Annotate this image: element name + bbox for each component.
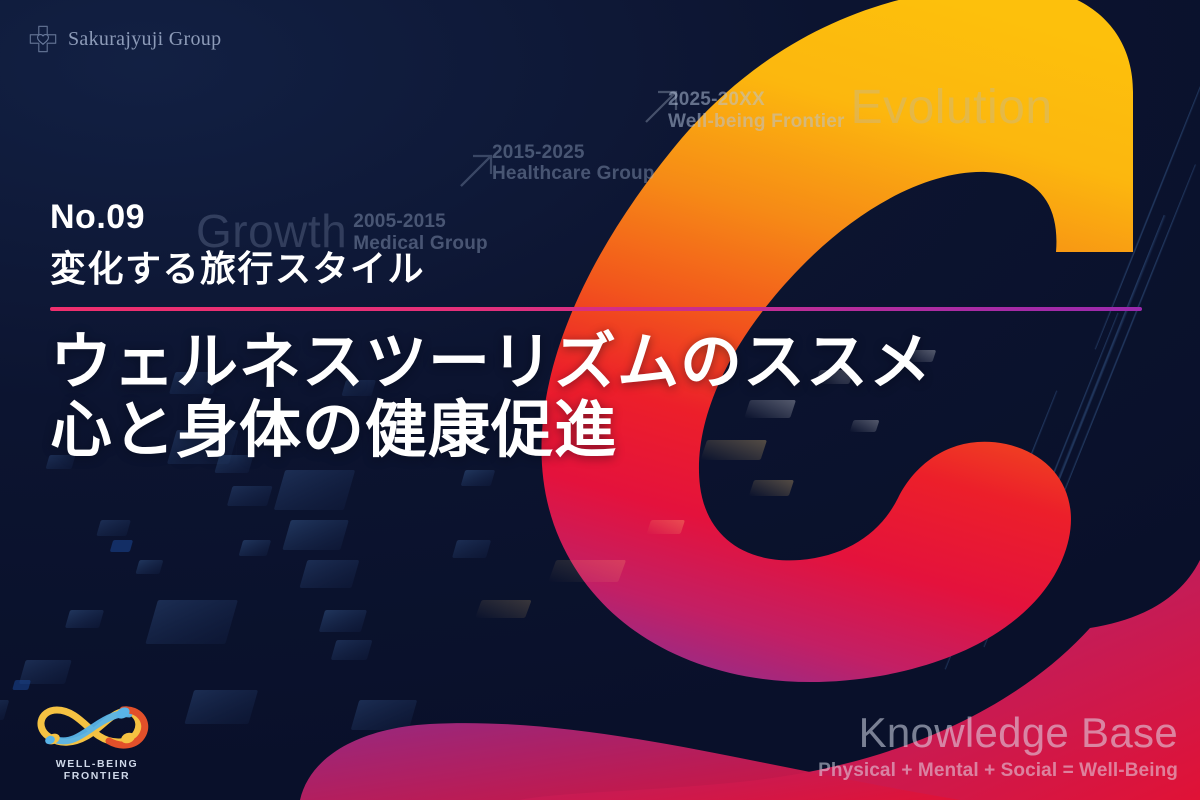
knowledge-base-title: Knowledge Base [818,712,1178,754]
well-being-frontier-badge[interactable]: WELL-BEING FRONTIER [22,694,172,782]
slide-subtitle: 変化する旅行スタイル [50,251,1142,287]
headline-line-1: ウェルネスツーリズムのススメ [50,328,932,397]
infinity-ribbon-icon [27,694,167,756]
cross-heart-icon [28,24,58,54]
knowledge-base-block: Knowledge Base Physical + Mental + Socia… [818,712,1178,782]
slide-copy: No.09 変化する旅行スタイル ウェルネスツーリズムのススメ 心と身体の健康促… [50,200,1142,465]
headline-line-2: 心と身体の健康促進 [50,397,1142,465]
slide-number: No.09 [50,200,145,234]
knowledge-base-formula: Physical + Mental + Social = Well-Being [818,760,1178,782]
slide-headline: ウェルネスツーリズムのススメ 心と身体の健康促進 [50,329,1142,465]
badge-label: WELL-BEING FRONTIER [22,758,172,782]
brand-name: Sakurajyuji Group [68,28,221,51]
slide-canvas: Sakurajyuji Group Growth 2005-2015 Medic… [0,0,1200,800]
brand-logo[interactable]: Sakurajyuji Group [28,24,221,54]
accent-divider [50,307,1142,311]
